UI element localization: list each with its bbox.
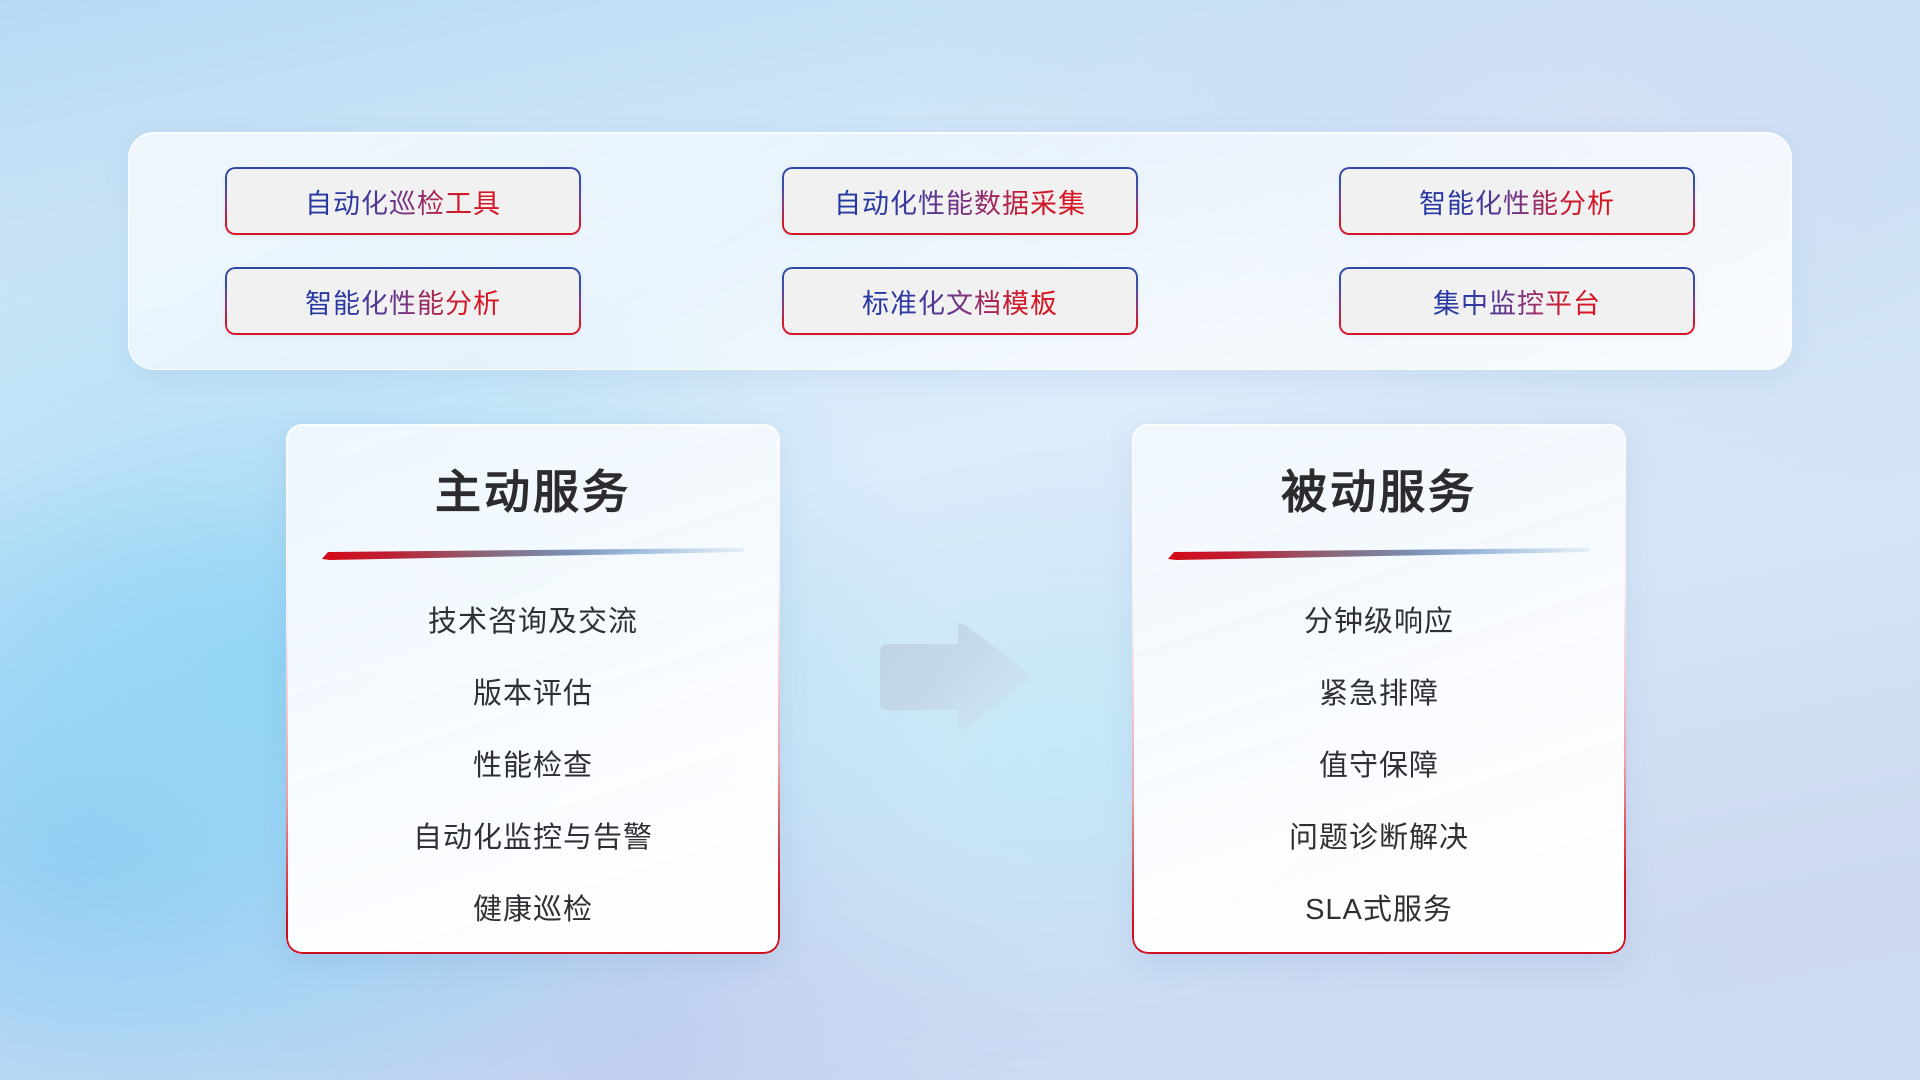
- capability-chip-label: 自动化巡检工具: [305, 182, 501, 221]
- service-card-reactive: 被动服务 分钟级响应 紧急排障 值守保障: [1132, 424, 1626, 954]
- capability-row-2: 智能化性能分析 标准化文档模板 集中监控平台: [225, 267, 1695, 335]
- capability-row-1: 自动化巡检工具 自动化性能数据采集 智能化性能分析: [225, 167, 1695, 235]
- divider-wedge-icon: [1168, 548, 1590, 560]
- list-item: 版本评估: [286, 658, 780, 730]
- capability-chip-intelligent-performance-analysis-2[interactable]: 智能化性能分析: [225, 267, 581, 335]
- capability-panel: 自动化巡检工具 自动化性能数据采集 智能化性能分析 智能化性能分析 标准化文档模…: [128, 132, 1792, 370]
- divider-wedge-icon: [322, 548, 744, 560]
- capability-chip-label: 集中监控平台: [1433, 282, 1601, 321]
- right-arrow-shape: [872, 618, 1032, 736]
- title-divider: [322, 548, 744, 560]
- list-item: 值守保障: [1132, 730, 1626, 802]
- capability-chip-centralized-monitoring-platform[interactable]: 集中监控平台: [1339, 267, 1695, 335]
- list-item: 技术咨询及交流: [286, 586, 780, 658]
- list-item: SLA式服务: [1132, 874, 1626, 946]
- capability-chip-label: 标准化文档模板: [862, 282, 1058, 321]
- service-card-title: 主动服务: [435, 456, 631, 522]
- service-list-reactive: 分钟级响应 紧急排障 值守保障 问题诊断解决 SLA式服务: [1132, 586, 1626, 946]
- service-card-proactive: 主动服务 技术咨询及交流 版本评估 性能检查: [286, 424, 780, 954]
- list-item: 自动化监控与告警: [286, 802, 780, 874]
- capability-chip-label: 智能化性能分析: [1419, 182, 1615, 221]
- service-card-title: 被动服务: [1281, 456, 1477, 522]
- capability-chip-automated-inspection-tool[interactable]: 自动化巡检工具: [225, 167, 581, 235]
- capability-chip-label: 智能化性能分析: [305, 282, 501, 321]
- list-item: 问题诊断解决: [1132, 802, 1626, 874]
- capability-chip-standardized-document-template[interactable]: 标准化文档模板: [782, 267, 1138, 335]
- right-arrow-icon: [872, 618, 1032, 736]
- capability-chip-label: 自动化性能数据采集: [834, 182, 1086, 221]
- capability-chip-automated-performance-data-collection[interactable]: 自动化性能数据采集: [782, 167, 1138, 235]
- service-list-proactive: 技术咨询及交流 版本评估 性能检查 自动化监控与告警 健康巡检: [286, 586, 780, 946]
- capability-chip-intelligent-performance-analysis[interactable]: 智能化性能分析: [1339, 167, 1695, 235]
- title-divider: [1168, 548, 1590, 560]
- list-item: 健康巡检: [286, 874, 780, 946]
- list-item: 性能检查: [286, 730, 780, 802]
- list-item: 紧急排障: [1132, 658, 1626, 730]
- list-item: 分钟级响应: [1132, 586, 1626, 658]
